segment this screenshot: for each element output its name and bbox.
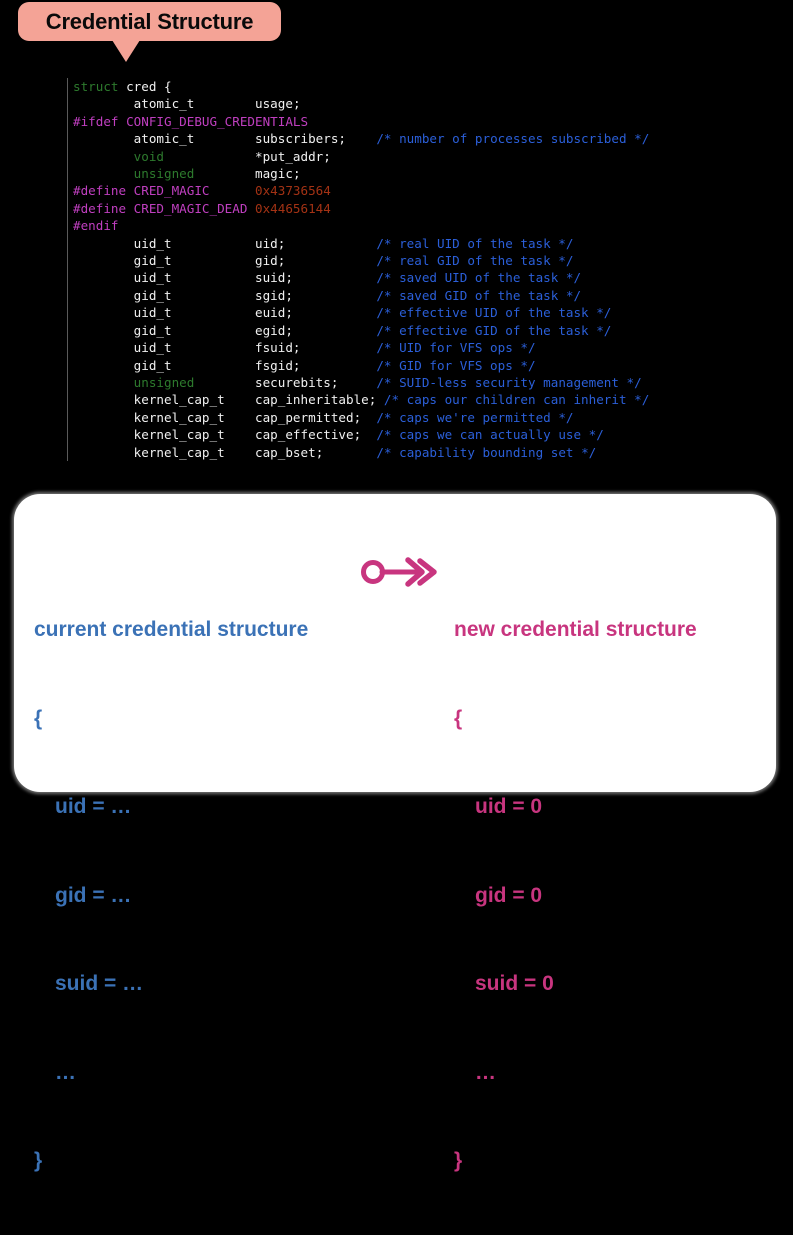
current-field-suid: suid = … [34,969,308,999]
new-close-brace: } [454,1146,697,1176]
callout-tail-arrow [112,40,140,62]
callout-bubble: Credential Structure [18,2,281,41]
circle-arrow-right-icon [360,552,448,592]
current-credential-structure: current credential structure { uid = … g… [34,556,308,1235]
new-field-gid: gid = 0 [454,881,697,911]
current-field-gid: gid = … [34,881,308,911]
current-field-ellipsis: … [34,1058,308,1088]
current-open-brace: { [34,704,308,734]
structure-comparison-panel: current credential structure { uid = … g… [14,494,776,792]
new-structure-heading: new credential structure [454,615,697,645]
code-listing: struct cred { atomic_t usage; #ifdef CON… [73,78,649,461]
new-open-brace: { [454,704,697,734]
current-structure-heading: current credential structure [34,615,308,645]
new-field-suid: suid = 0 [454,969,697,999]
current-close-brace: } [34,1146,308,1176]
new-field-ellipsis: … [454,1058,697,1088]
current-field-uid: uid = … [34,792,308,822]
new-credential-structure: new credential structure { uid = 0 gid =… [454,556,697,1235]
callout-title: Credential Structure [46,9,254,35]
new-field-uid: uid = 0 [454,792,697,822]
code-block: struct cred { atomic_t usage; #ifdef CON… [67,78,649,461]
